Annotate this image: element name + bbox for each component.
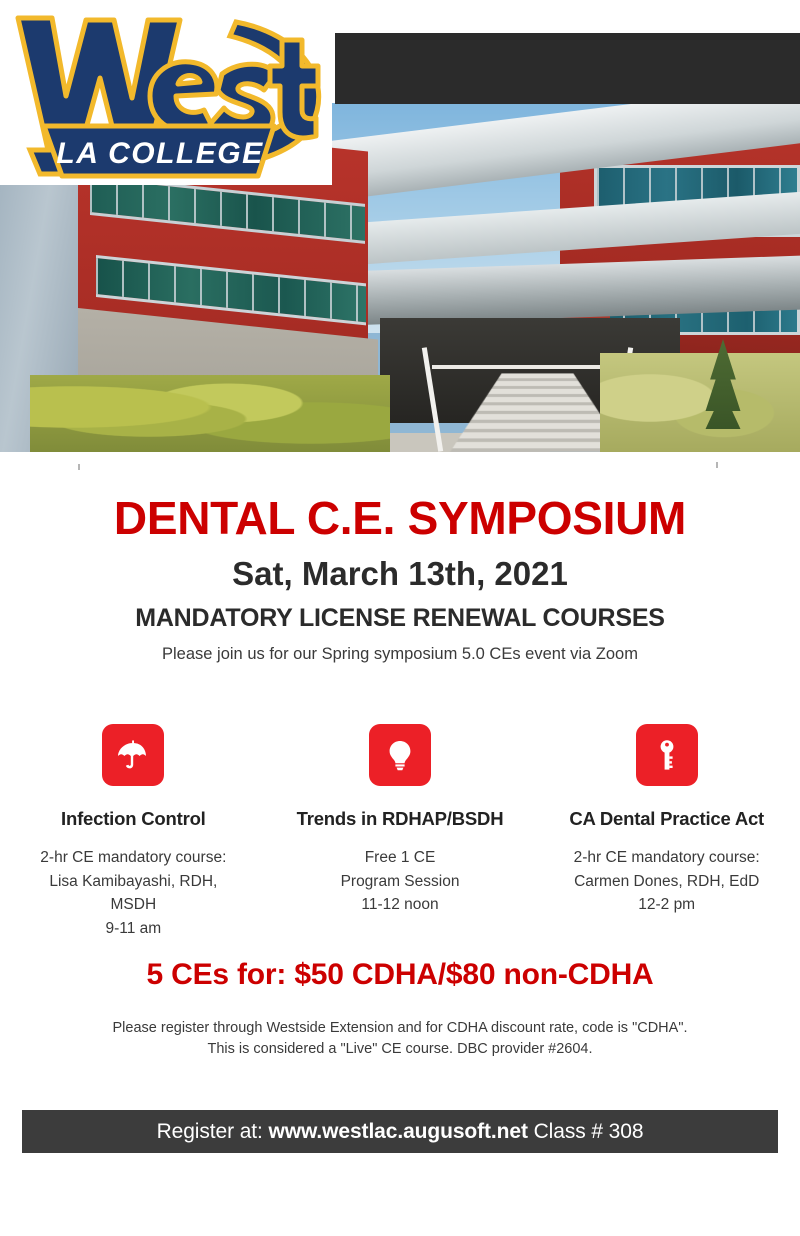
course-detail-line: 12-2 pm (539, 893, 794, 917)
event-intro: Please join us for our Spring symposium … (0, 645, 800, 664)
shrubs-left (30, 375, 390, 452)
course-details: Free 1 CE Program Session 11-12 noon (273, 846, 528, 917)
price-line: 5 CEs for: $50 CDHA/$80 non-CDHA (0, 958, 800, 992)
course-details: 2-hr CE mandatory course: Lisa Kamibayas… (6, 846, 261, 940)
event-subtitle: MANDATORY LICENSE RENEWAL COURSES (0, 604, 800, 633)
course-title: Infection Control (6, 808, 261, 830)
course-title: CA Dental Practice Act (539, 808, 794, 830)
register-text: Register at: www.westlac.augusoft.net Cl… (157, 1120, 644, 1144)
fine-print: Please register through Westside Extensi… (0, 1018, 800, 1060)
hero-header: LA COLLEGE (0, 0, 800, 452)
svg-text:LA COLLEGE: LA COLLEGE (56, 137, 263, 170)
course-card-trends-rdhap-bsdh: Trends in RDHAP/BSDH Free 1 CE Program S… (267, 724, 534, 940)
course-detail-line: MSDH (6, 893, 261, 917)
shrubs-right (600, 353, 800, 452)
course-detail-line: Carmen Dones, RDH, EdD (539, 870, 794, 894)
register-class-number: Class # 308 (528, 1120, 644, 1143)
course-detail-line: 9-11 am (6, 917, 261, 941)
course-card-infection-control: Infection Control 2-hr CE mandatory cour… (0, 724, 267, 940)
register-footer-bar: Register at: www.westlac.augusoft.net Cl… (22, 1110, 778, 1153)
course-card-ca-dental-practice-act: CA Dental Practice Act 2-hr CE mandatory… (533, 724, 800, 940)
key-icon (636, 724, 698, 786)
fine-print-line-1: Please register through Westside Extensi… (0, 1018, 800, 1039)
course-detail-line: 2-hr CE mandatory course: (539, 846, 794, 870)
register-prefix: Register at: (157, 1120, 269, 1143)
hero-dark-band (335, 33, 800, 104)
umbrella-icon (102, 724, 164, 786)
course-detail-line: 11-12 noon (273, 893, 528, 917)
event-date: Sat, March 13th, 2021 (0, 556, 800, 592)
course-detail-line: Lisa Kamibayashi, RDH, (6, 870, 261, 894)
page-title: DENTAL C.E. SYMPOSIUM (0, 494, 800, 542)
course-title: Trends in RDHAP/BSDH (273, 808, 528, 830)
stair-rail-top (432, 365, 622, 369)
fine-print-line-2: This is considered a "Live" CE course. D… (0, 1039, 800, 1060)
course-details: 2-hr CE mandatory course: Carmen Dones, … (539, 846, 794, 917)
course-detail-line: 2-hr CE mandatory course: (6, 846, 261, 870)
course-detail-line: Free 1 CE (273, 846, 528, 870)
lightbulb-icon (369, 724, 431, 786)
print-speck (716, 462, 718, 468)
course-list: Infection Control 2-hr CE mandatory cour… (0, 724, 800, 940)
west-la-college-logo: LA COLLEGE (0, 0, 332, 185)
register-url[interactable]: www.westlac.augusoft.net (269, 1120, 528, 1143)
flyer-page: LA COLLEGE DENTAL C.E. SYMPOSIUM Sat, Ma… (0, 0, 800, 1236)
print-speck (78, 464, 80, 470)
course-detail-line: Program Session (273, 870, 528, 894)
